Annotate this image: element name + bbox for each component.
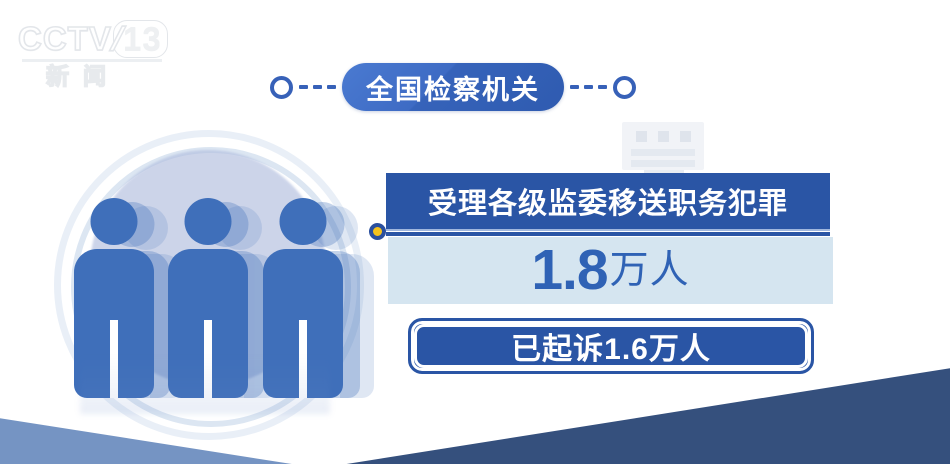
document-bar-line	[631, 160, 695, 167]
stat-value-number: 1.8	[531, 242, 607, 299]
person-head-icon	[185, 198, 232, 245]
banner: 全国检察机关	[270, 62, 636, 112]
document-square-icon	[636, 131, 647, 142]
cctv13-logo: CCTV/13 新闻	[18, 20, 168, 82]
document-bar-line	[631, 149, 695, 156]
stat-value-unit: 万人	[610, 251, 690, 290]
logo-wordmark: CCTV/13	[18, 20, 168, 58]
dash-segment	[598, 85, 607, 89]
banner-title-pill[interactable]: 全国检察机关	[342, 63, 564, 111]
person-head-icon	[280, 198, 327, 245]
infographic-slide: CCTV/13 新闻	[0, 0, 950, 464]
stat-divider	[386, 232, 830, 236]
document-square-icon	[658, 131, 669, 142]
stat-heading-text: 受理各级监委移送职务犯罪	[428, 180, 788, 222]
people-reflection	[80, 354, 330, 414]
stat-value-panel: 1.8 万人	[388, 237, 833, 304]
dash-segment	[313, 85, 322, 89]
dash-segment	[327, 85, 336, 89]
people-illustration	[52, 128, 362, 428]
banner-right-ring-icon	[613, 76, 636, 99]
document-square-icon	[680, 131, 691, 142]
dash-segment	[584, 85, 593, 89]
stat-node-dot-icon	[369, 223, 386, 240]
prosecuted-count-button-inner: 已起诉1.6万人	[414, 324, 808, 368]
logo-divider-rule	[22, 59, 162, 62]
prosecuted-count-label: 已起诉1.6万人	[511, 324, 711, 368]
logo-cctv-text: CCTV	[18, 20, 112, 57]
logo-subtitle: 新闻	[18, 64, 168, 89]
dash-segment	[570, 85, 579, 89]
banner-left-dashes	[299, 85, 336, 89]
banner-title-text: 全国检察机关	[366, 68, 540, 107]
stat-divider-thin	[386, 229, 830, 231]
person-head-icon	[91, 198, 138, 245]
stat-heading-bar: 受理各级监委移送职务犯罪	[386, 173, 830, 229]
document-card-decoration	[622, 122, 704, 170]
banner-left-ring-icon	[270, 76, 293, 99]
dash-segment	[299, 85, 308, 89]
prosecuted-count-button[interactable]: 已起诉1.6万人	[408, 318, 814, 374]
banner-right-dashes	[570, 85, 607, 89]
